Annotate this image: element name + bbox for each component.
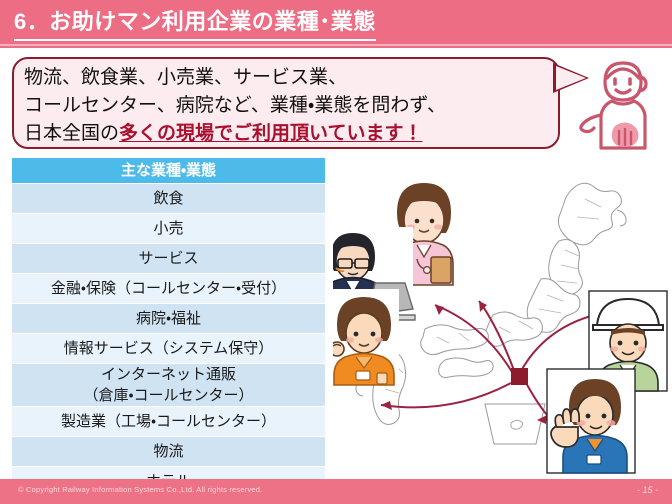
table-cell-industry: 小売 xyxy=(12,214,325,244)
bubble-line-3-prefix: 日本全国の xyxy=(24,123,119,144)
table-cell-industry: インターネット通販（倉庫・コールセンター） xyxy=(12,364,325,407)
industry-table-body: 飲食小売サービス金融・保険（コールセンター・受付）病院・福祉情報サービス（システ… xyxy=(12,184,325,497)
table-row: 小売 xyxy=(12,214,325,244)
speech-bubble-tail xyxy=(556,66,586,90)
industry-table-head: 主な業種・業態 xyxy=(12,158,325,184)
slide-footer: © Copyright Railway Information Systems … xyxy=(0,479,672,504)
page-title: 6．お助けマン利用企業の業種･業態 xyxy=(14,7,376,41)
illustration-svg xyxy=(333,155,672,477)
table-cell-industry: 金融・保険（コールセンター・受付） xyxy=(12,274,325,304)
table-header-row: 主な業種・業態 xyxy=(12,158,325,184)
speech-bubble: 物流、飲食業、小売業、サービス業、 コールセンター、病院など、業種・業態を問わず… xyxy=(12,57,560,149)
table-cell-industry: 飲食 xyxy=(12,184,325,214)
table-cell-industry: サービス xyxy=(12,244,325,274)
title-underline-rule xyxy=(0,44,672,46)
table-cell-line-2: （倉庫・コールセンター） xyxy=(12,385,325,406)
table-row: 物流 xyxy=(12,437,325,467)
bubble-line-2: コールセンター、病院など、業種・業態を問わず、 xyxy=(24,92,554,120)
table-row: 病院・福祉 xyxy=(12,304,325,334)
table-row: 飲食 xyxy=(12,184,325,214)
table-cell-industry: 製造業（工場・コールセンター） xyxy=(12,407,325,437)
table-cell-industry: 物流 xyxy=(12,437,325,467)
table-cell-industry: 病院・福祉 xyxy=(12,304,325,334)
table-row: サービス xyxy=(12,244,325,274)
bubble-line-3: 日本全国の多くの現場でご利用頂いています！ xyxy=(24,120,554,148)
slide-canvas: 6．お助けマン利用企業の業種･業態 物流、飲食業、小売業、サービス業、 コールセ… xyxy=(0,0,672,504)
mascot-icon xyxy=(578,52,668,157)
table-cell-line-1: インターネット通販 xyxy=(12,364,325,385)
speech-bubble-text: 物流、飲食業、小売業、サービス業、 コールセンター、病院など、業種・業態を問わず… xyxy=(24,64,554,148)
copyright-text: © Copyright Railway Information Systems … xyxy=(18,485,262,494)
table-row: インターネット通販（倉庫・コールセンター） xyxy=(12,364,325,407)
table-row: 情報サービス（システム保守） xyxy=(12,334,325,364)
slide-title-bar: 6．お助けマン利用企業の業種･業態 xyxy=(0,0,672,48)
mascot-helper-character xyxy=(578,52,668,157)
blue-uniform-staff-character xyxy=(547,369,635,473)
industry-table: 主な業種・業態 飲食小売サービス金融・保険（コールセンター・受付）病院・福祉情報… xyxy=(12,158,325,497)
bubble-line-1: 物流、飲食業、小売業、サービス業、 xyxy=(24,64,554,92)
orange-uniform-staff-character xyxy=(333,289,399,385)
table-row: 金融・保険（コールセンター・受付） xyxy=(12,274,325,304)
page-number: - 15 - xyxy=(637,485,658,495)
table-header-cell: 主な業種・業態 xyxy=(12,158,325,184)
table-cell-industry: 情報サービス（システム保守） xyxy=(12,334,325,364)
japan-map-illustration xyxy=(333,155,672,477)
hub-marker xyxy=(511,368,528,385)
table-row: 製造業（工場・コールセンター） xyxy=(12,407,325,437)
bubble-line-3-highlight: 多くの現場でご利用頂いています！ xyxy=(119,123,422,144)
